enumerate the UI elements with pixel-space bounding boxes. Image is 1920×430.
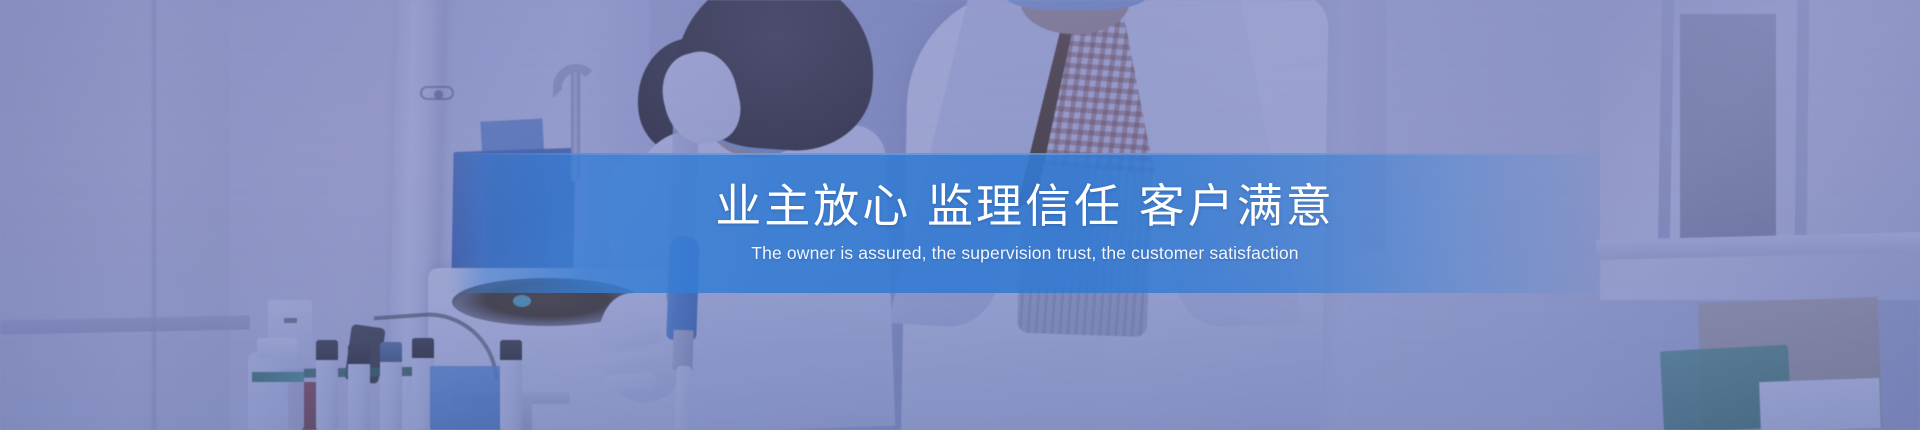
subheadline: The owner is assured, the supervision tr… xyxy=(751,243,1298,264)
hero-banner: 业主放心 监理信任 客户满意 The owner is assured, the… xyxy=(0,0,1920,430)
headline: 业主放心 监理信任 客户满意 xyxy=(715,182,1335,230)
caption-text-block: 业主放心 监理信任 客户满意 The owner is assured, the… xyxy=(450,153,1600,293)
